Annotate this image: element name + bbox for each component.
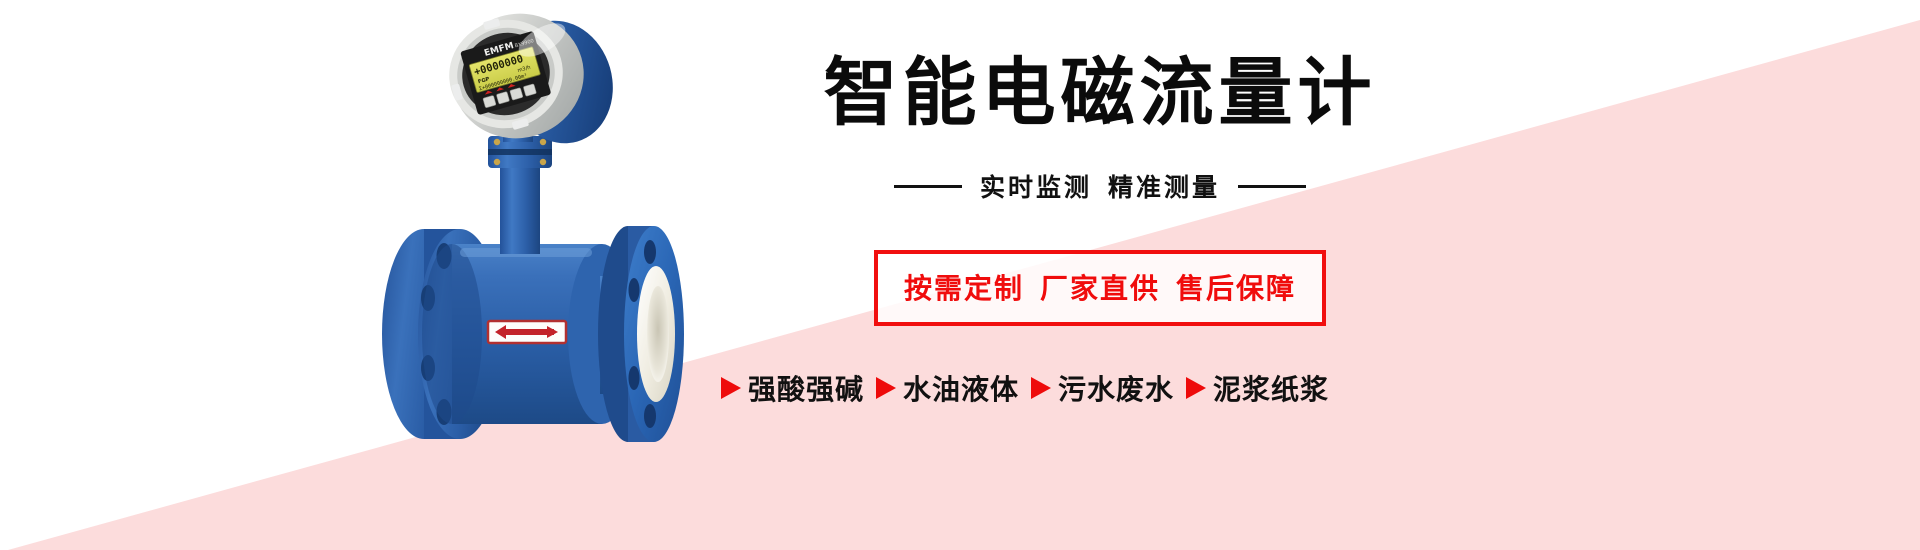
promo-wrapper: 按需定制厂家直供售后保障	[790, 250, 1410, 326]
rule-left-divider	[894, 185, 962, 188]
subtitle-left: 实时监测	[980, 173, 1092, 202]
flow-direction-arrow-label	[488, 321, 566, 343]
subtitle-row: 实时监测精准测量	[790, 168, 1410, 204]
triangle-right-icon	[1031, 377, 1051, 399]
triangle-right-icon	[1186, 377, 1206, 399]
feature-label: 污水废水	[1058, 368, 1174, 408]
triangle-right-icon	[876, 377, 896, 399]
right-flange	[598, 226, 684, 442]
feature-label: 泥浆纸浆	[1213, 368, 1329, 408]
promo-item-3: 售后保障	[1176, 272, 1296, 305]
rule-right-divider	[1238, 185, 1306, 188]
feature-item: 水油液体	[876, 368, 1019, 408]
promo-text: 按需定制厂家直供售后保障	[904, 272, 1296, 305]
promo-item-2: 厂家直供	[1040, 272, 1160, 305]
feature-label: 水油液体	[903, 368, 1019, 408]
flowmeter-body	[382, 226, 684, 442]
subtitle-right: 精准测量	[1108, 173, 1220, 202]
triangle-right-icon	[721, 377, 741, 399]
promo-item-1: 按需定制	[904, 272, 1024, 305]
feature-item: 泥浆纸浆	[1186, 368, 1329, 408]
feature-label: 强酸强碱	[748, 368, 864, 408]
promo-banner: EMFM BX9900 +0000000 FGP m3/h Σ+00000000…	[0, 0, 1920, 550]
feature-list: 强酸强碱 水油液体 污水废水 泥浆纸浆	[610, 368, 1440, 408]
subtitle-text: 实时监测精准测量	[980, 168, 1220, 204]
banner-copy: 智能电磁流量计 实时监测精准测量 按需定制厂家直供售后保障 强酸强碱 水油液体 …	[790, 0, 1490, 550]
promo-badge-box: 按需定制厂家直供售后保障	[874, 250, 1326, 326]
transmitter-head: EMFM BX9900 +0000000 FGP m3/h Σ+00000000…	[436, 4, 627, 156]
feature-item: 污水废水	[1031, 368, 1174, 408]
page-title: 智能电磁流量计	[790, 52, 1410, 134]
feature-item: 强酸强碱	[721, 368, 864, 408]
